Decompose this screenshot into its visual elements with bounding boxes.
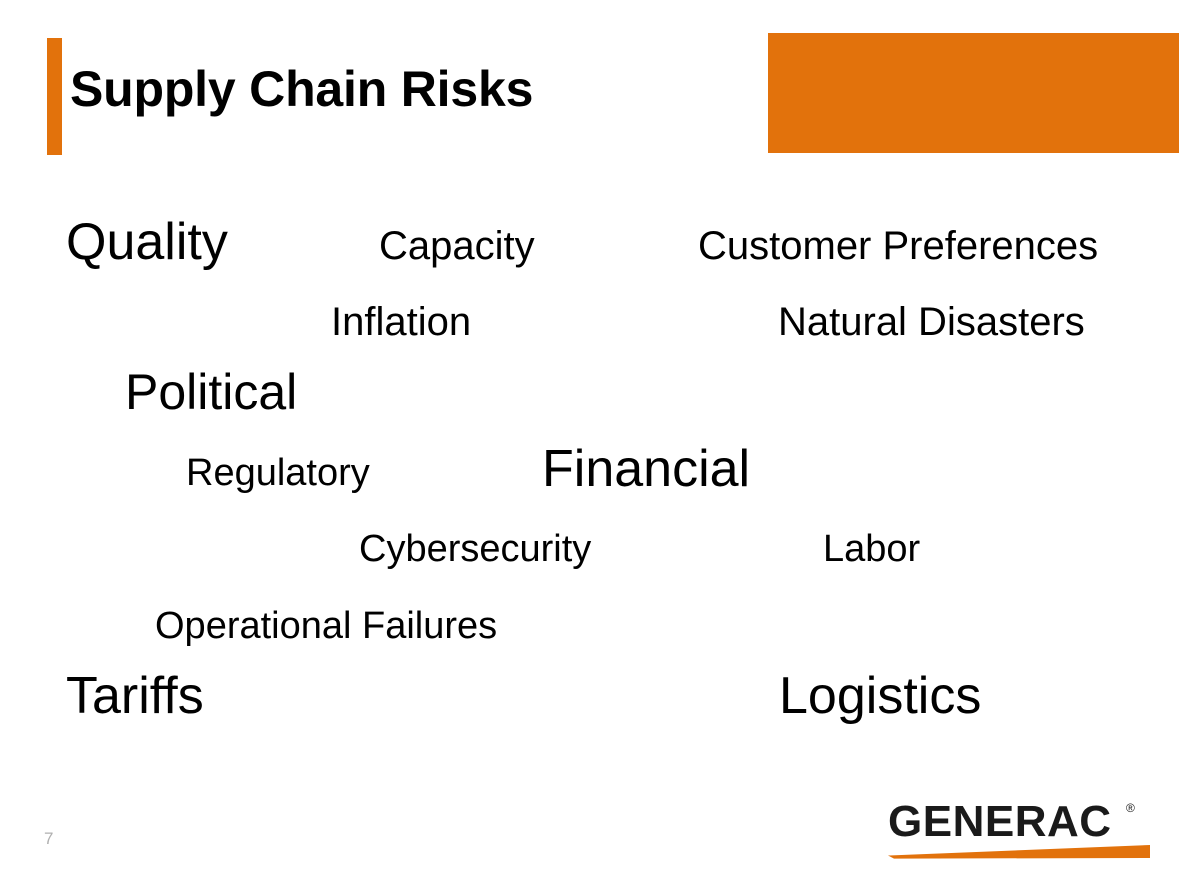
registered-trademark-icon: ® [1126,802,1135,814]
risk-word: Operational Failures [155,607,497,645]
risk-word: Regulatory [186,454,370,492]
risk-word: Financial [542,443,750,495]
risk-word: Customer Preferences [698,226,1098,266]
page-number: 7 [44,830,53,847]
risk-word-cloud: QualityCapacityCustomer PreferencesInfla… [0,0,1179,877]
risk-word: Labor [823,530,920,568]
risk-word: Tariffs [66,670,204,722]
risk-word: Natural Disasters [778,302,1085,342]
risk-word: Capacity [379,226,535,266]
risk-word: Cybersecurity [359,530,591,568]
generac-swoosh-icon [888,845,1150,862]
slide-canvas: Supply Chain Risks QualityCapacityCustom… [0,0,1179,877]
risk-word: Logistics [779,670,981,722]
risk-word: Inflation [331,302,471,342]
risk-word: Political [125,367,297,417]
risk-word: Quality [66,216,228,268]
generac-logo: GENERAC ® [888,800,1150,862]
generac-wordmark: GENERAC [888,800,1112,844]
